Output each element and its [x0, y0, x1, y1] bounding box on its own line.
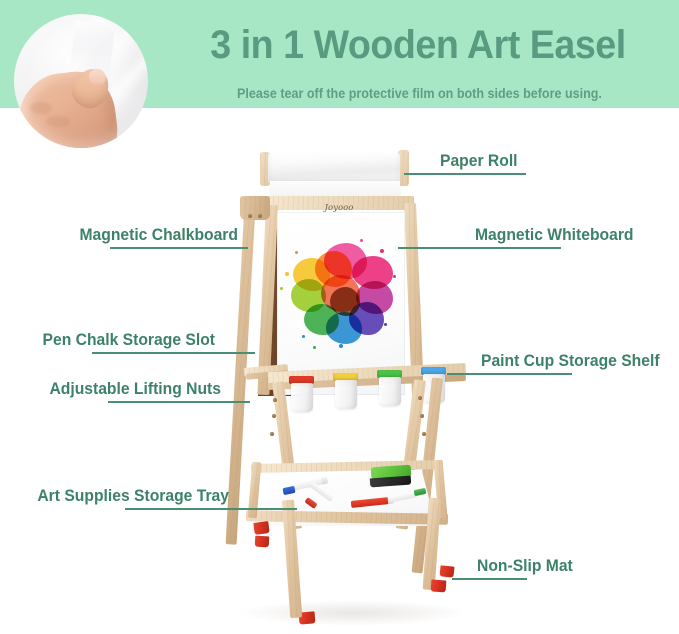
callout-label-non-slip-mat: Non-Slip Mat: [477, 557, 573, 576]
callout-non-slip-mat: Non-Slip Mat: [477, 557, 578, 576]
adjustable-lifting-nut-left-3: [270, 432, 274, 436]
ground-shadow: [238, 600, 468, 626]
paint-cup-yellow: [335, 380, 357, 409]
callout-label-magnetic-whiteboard: Magnetic Whiteboard: [475, 226, 634, 245]
callout-line-art-supplies-tray: [125, 508, 297, 510]
callout-label-paint-cup-shelf: Paint Cup Storage Shelf: [481, 352, 660, 371]
callout-magnetic-whiteboard: Magnetic Whiteboard: [475, 226, 642, 245]
paint-cup-red: [291, 383, 313, 412]
callout-label-art-supplies-tray: Art Supplies Storage Tray: [11, 487, 229, 506]
non-slip-foot-front-left: [253, 521, 269, 535]
callout-adjustable-nuts: Adjustable Lifting Nuts: [0, 380, 221, 399]
callout-line-magnetic-whiteboard: [398, 247, 561, 249]
callout-label-adjustable-nuts: Adjustable Lifting Nuts: [11, 380, 221, 399]
callout-line-magnetic-chalkboard: [110, 247, 248, 249]
non-slip-foot-bottom-right: [431, 579, 447, 592]
paint-cup-green: [379, 377, 401, 406]
paper-roll: [268, 153, 400, 184]
adjustable-lifting-nut-right-1: [418, 396, 422, 400]
callout-art-supplies-tray: Art Supplies Storage Tray: [0, 487, 229, 506]
infographic-page: 3 in 1 Wooden Art Easel Please tear off …: [0, 0, 679, 634]
non-slip-foot-rear-right: [439, 565, 454, 577]
callout-line-non-slip-mat: [452, 578, 527, 580]
callout-label-magnetic-chalkboard: Magnetic Chalkboard: [12, 226, 238, 245]
hinge-nut-2: [258, 214, 262, 218]
callout-paper-roll: Paper Roll: [440, 152, 522, 171]
callout-pen-chalk-slot: Pen Chalk Storage Slot: [0, 331, 215, 350]
callout-paint-cup-shelf: Paint Cup Storage Shelf: [481, 352, 669, 371]
callout-line-paper-roll: [404, 173, 526, 175]
callout-line-pen-chalk-slot: [92, 352, 255, 354]
hinge-block: [240, 196, 270, 220]
adjustable-lifting-nut-right-2: [420, 414, 424, 418]
callout-label-paper-roll: Paper Roll: [440, 152, 518, 171]
paint-splash-artwork: [289, 243, 397, 348]
callout-label-pen-chalk-slot: Pen Chalk Storage Slot: [11, 331, 215, 350]
adjustable-lifting-nut-left-2: [272, 414, 276, 418]
product-easel-illustration: Joyooo: [0, 0, 679, 634]
callout-line-adjustable-nuts: [108, 401, 250, 403]
hinge-nut-1: [248, 214, 252, 218]
callout-magnetic-chalkboard: Magnetic Chalkboard: [0, 226, 238, 245]
adjustable-lifting-nut-left-1: [273, 398, 277, 402]
callout-line-paint-cup-shelf: [447, 373, 572, 375]
non-slip-foot-rear-left: [255, 536, 270, 548]
